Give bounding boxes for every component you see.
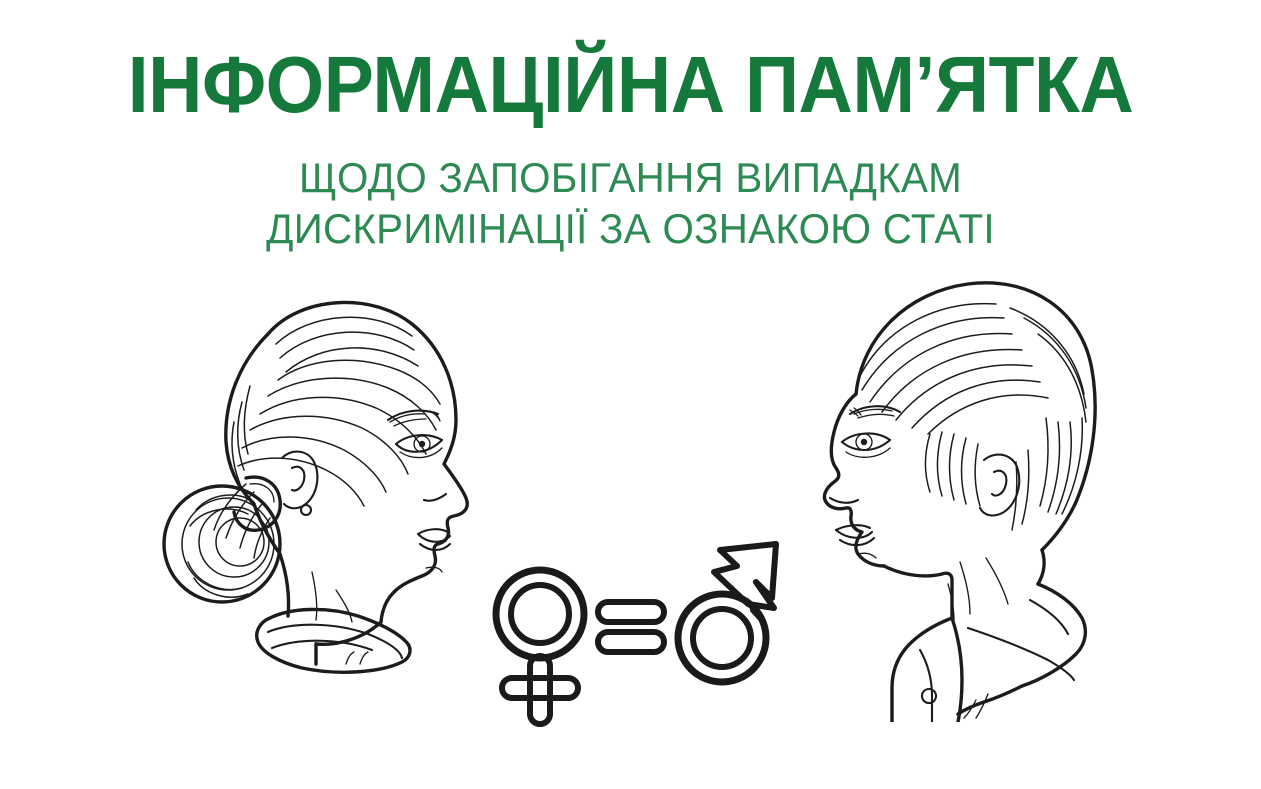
woman-profile-illustration <box>150 272 530 692</box>
equals-sign-icon <box>598 602 664 652</box>
page-title: ІНФОРМАЦІЙНА ПАМ’ЯТКА <box>38 0 1223 122</box>
page-subtitle: ЩОДО ЗАПОБІГАННЯ ВИПАДКАМ ДИСКРИМІНАЦІЇ … <box>25 122 1236 254</box>
gender-equality-symbol <box>484 540 794 730</box>
male-symbol-icon <box>678 544 776 682</box>
man-profile-illustration <box>800 262 1140 722</box>
subtitle-line-1: ЩОДО ЗАПОБІГАННЯ ВИПАДКАМ <box>25 152 1236 203</box>
female-symbol-icon <box>496 570 584 724</box>
heading-block: ІНФОРМАЦІЙНА ПАМ’ЯТКА ЩОДО ЗАПОБІГАННЯ В… <box>0 0 1261 254</box>
poster-canvas: ІНФОРМАЦІЙНА ПАМ’ЯТКА ЩОДО ЗАПОБІГАННЯ В… <box>0 0 1261 789</box>
subtitle-line-2: ДИСКРИМІНАЦІЇ ЗА ОЗНАКОЮ СТАТІ <box>25 203 1236 254</box>
illustration-row <box>0 262 1261 789</box>
